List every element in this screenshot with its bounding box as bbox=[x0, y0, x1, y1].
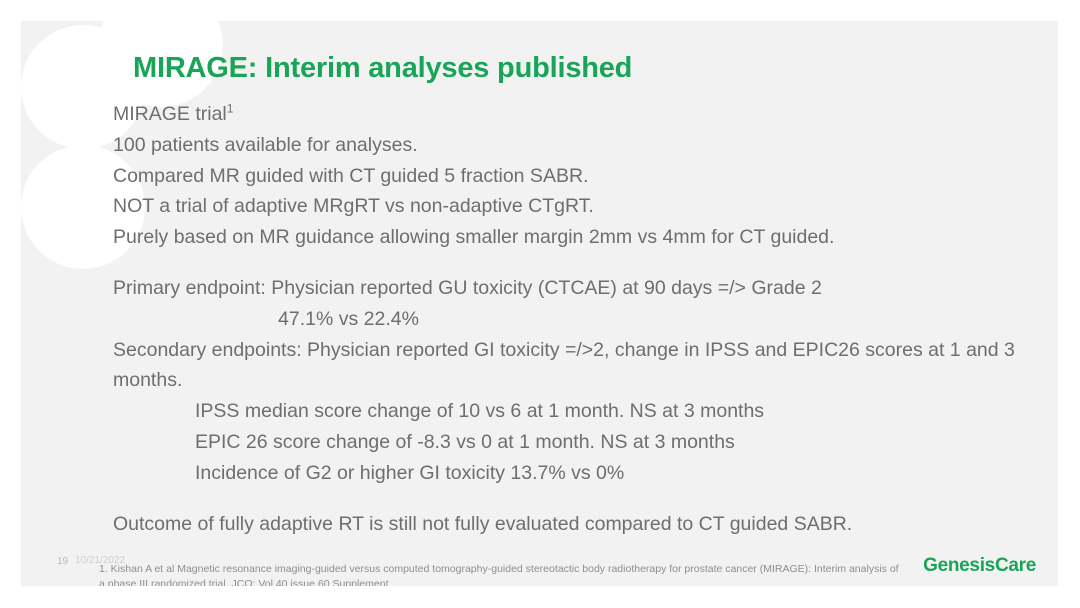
body-line-margins: Purely based on MR guidance allowing sma… bbox=[113, 222, 1023, 253]
slide-canvas: MIRAGE: Interim analyses published MIRAG… bbox=[21, 21, 1058, 586]
primary-endpoint-line: Primary endpoint: Physician reported GU … bbox=[113, 273, 1023, 304]
body-line-trial: MIRAGE trial1 bbox=[113, 99, 1023, 130]
slide-number: 19 bbox=[57, 556, 68, 567]
body-spacer bbox=[113, 253, 1023, 273]
body-line-patients: 100 patients available for analyses. bbox=[113, 130, 1023, 161]
citation-reference: 1. Kishan A et al Magnetic resonance ima… bbox=[99, 562, 899, 586]
body-line-not-adaptive: NOT a trial of adaptive MRgRT vs non-ada… bbox=[113, 191, 1023, 222]
secondary-result-epic26: EPIC 26 score change of -8.3 vs 0 at 1 m… bbox=[113, 427, 1023, 458]
conclusion-line: Outcome of fully adaptive RT is still no… bbox=[113, 509, 1023, 540]
body-line-trial-text: MIRAGE trial bbox=[113, 103, 227, 125]
body-spacer bbox=[113, 489, 1023, 509]
footnote-marker: 1 bbox=[227, 102, 234, 116]
secondary-result-gi-toxicity: Incidence of G2 or higher GI toxicity 13… bbox=[113, 458, 1023, 489]
slide-body: MIRAGE trial1 100 patients available for… bbox=[113, 99, 1023, 539]
page-title: MIRAGE: Interim analyses published bbox=[133, 52, 632, 85]
secondary-result-ipss: IPSS median score change of 10 vs 6 at 1… bbox=[113, 396, 1023, 427]
body-line-comparison: Compared MR guided with CT guided 5 frac… bbox=[113, 161, 1023, 192]
primary-endpoint-result: 47.1% vs 22.4% bbox=[113, 304, 1023, 335]
secondary-endpoint-line: Secondary endpoints: Physician reported … bbox=[113, 335, 1023, 397]
genesiscare-logo: GenesisCare bbox=[923, 555, 1036, 577]
